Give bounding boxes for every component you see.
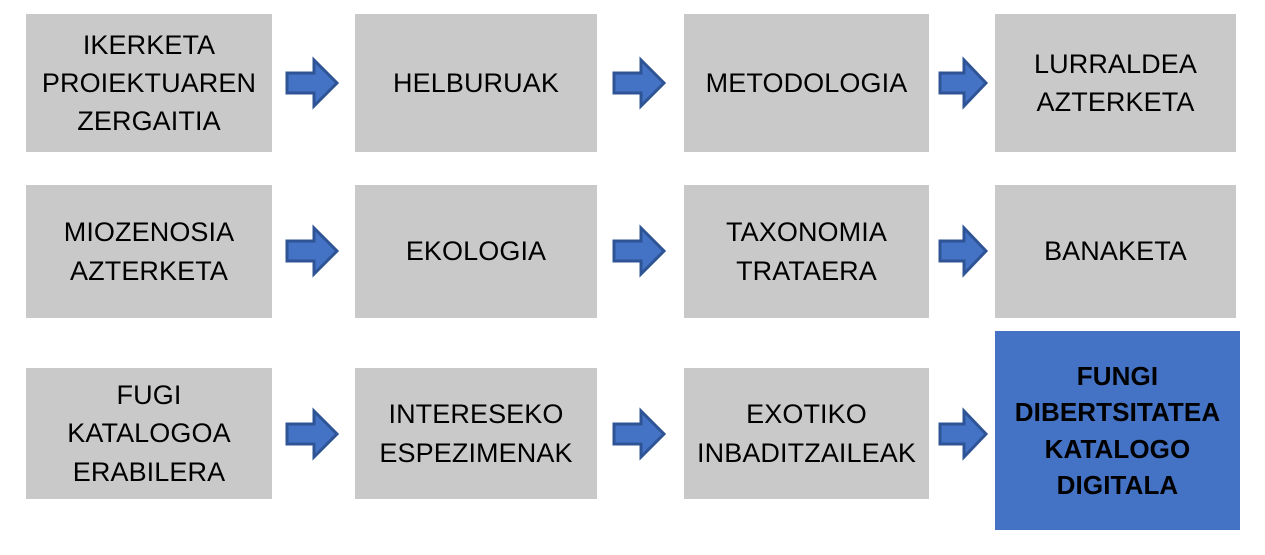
flowchart-canvas: IKERKETA PROIEKTUAREN ZERGAITIA HELBURUA…: [0, 0, 1265, 555]
flow-box-r3c4-result[interactable]: FUNGI DIBERTSITATEA KATALOGO DIGITALA: [995, 331, 1240, 530]
flow-box-r1c4[interactable]: LURRALDEA AZTERKETA: [995, 14, 1236, 152]
right-arrow-icon: [612, 225, 666, 277]
flow-box-r3c1[interactable]: FUGI KATALOGOA ERABILERA: [26, 368, 272, 499]
right-arrow-icon: [938, 225, 988, 277]
flow-box-r1c3[interactable]: METODOLOGIA: [684, 14, 929, 152]
right-arrow-icon: [612, 408, 666, 460]
right-arrow-icon: [938, 408, 988, 460]
flow-box-r2c2[interactable]: EKOLOGIA: [355, 185, 597, 318]
right-arrow-icon: [612, 57, 666, 109]
right-arrow-icon: [285, 225, 339, 277]
flow-box-r2c1[interactable]: MIOZENOSIA AZTERKETA: [26, 185, 272, 318]
flow-box-r2c3[interactable]: TAXONOMIA TRATAERA: [684, 185, 929, 318]
right-arrow-icon: [285, 57, 339, 109]
flow-box-r3c2[interactable]: INTERESEKO ESPEZIMENAK: [355, 368, 597, 499]
right-arrow-icon: [285, 408, 339, 460]
flow-box-r2c4[interactable]: BANAKETA: [995, 185, 1236, 318]
right-arrow-icon: [938, 57, 988, 109]
flow-box-r1c1[interactable]: IKERKETA PROIEKTUAREN ZERGAITIA: [26, 14, 272, 152]
flow-box-r1c2[interactable]: HELBURUAK: [355, 14, 597, 152]
flow-box-r3c3[interactable]: EXOTIKO INBADITZAILEAK: [684, 368, 929, 499]
